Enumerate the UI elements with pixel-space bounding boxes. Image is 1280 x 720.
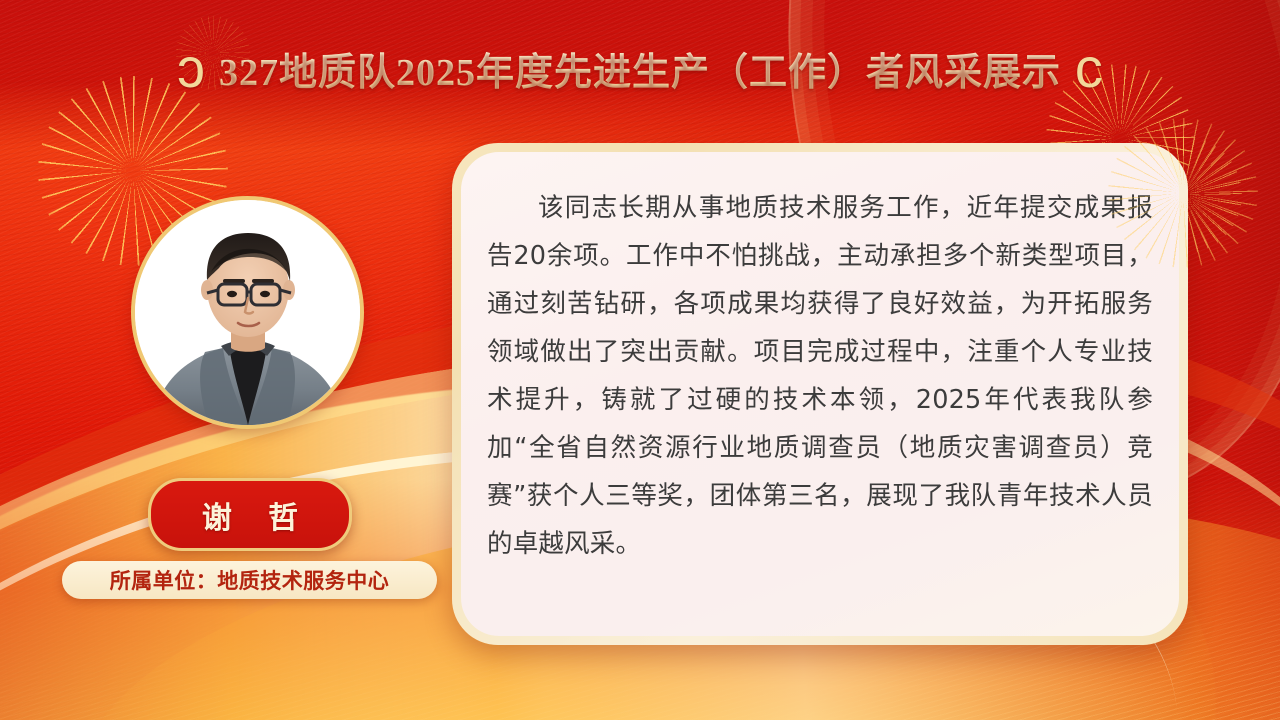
laurel-branch-icon: ᴐ — [177, 40, 205, 96]
citation-text: 该同志长期从事地质技术服务工作，近年提交成果报告20余项。工作中不怕挑战，主动承… — [487, 184, 1153, 568]
avatar — [135, 200, 360, 425]
person-unit-label: 所属单位：地质技术服务中心 — [110, 565, 390, 595]
person-name-badge: 谢 哲 — [148, 478, 352, 551]
person-unit-badge: 所属单位：地质技术服务中心 — [62, 561, 437, 599]
laurel-branch-icon: ᴐ — [1075, 40, 1103, 96]
poster-canvas: ᴐ 327地质队2025年度先进生产（工作）者风采展示 ᴐ — [0, 0, 1280, 720]
person-name: 谢 哲 — [188, 493, 312, 537]
citation-card-inner: 该同志长期从事地质技术服务工作，近年提交成果报告20余项。工作中不怕挑战，主动承… — [461, 152, 1179, 636]
portrait-photo — [135, 200, 360, 425]
citation-card: 该同志长期从事地质技术服务工作，近年提交成果报告20余项。工作中不怕挑战，主动承… — [452, 143, 1188, 645]
page-title: 327地质队2025年度先进生产（工作）者风采展示 — [219, 41, 1061, 96]
poster-title-row: ᴐ 327地质队2025年度先进生产（工作）者风采展示 ᴐ — [0, 40, 1280, 96]
firework-icon — [1108, 118, 1258, 268]
